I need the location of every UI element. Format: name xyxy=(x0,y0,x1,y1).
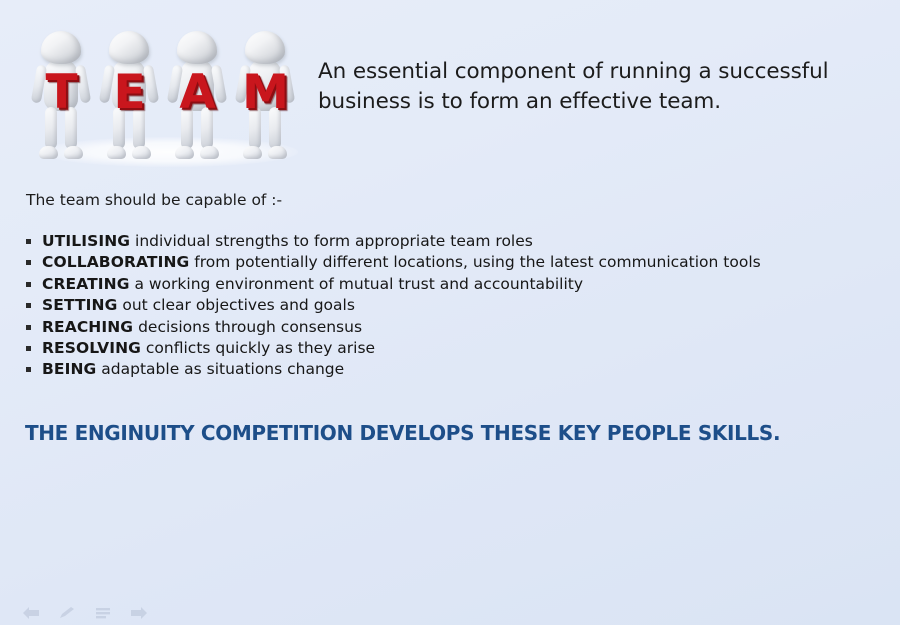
bullet-keyword: UTILISING xyxy=(42,232,130,250)
team-figure-e: E xyxy=(98,31,160,159)
presentation-slide: T E A xyxy=(0,0,900,625)
team-letter-3: A xyxy=(166,69,228,116)
figure-head xyxy=(109,31,149,64)
list-item: BEING adaptable as situations change xyxy=(24,359,884,380)
figure-head xyxy=(41,31,81,64)
bullet-keyword: RESOLVING xyxy=(42,339,141,357)
bullet-keyword: SETTING xyxy=(42,296,117,314)
list-item: COLLABORATING from potentially different… xyxy=(24,252,884,273)
team-illustration: T E A xyxy=(22,18,312,173)
list-item: SETTING out clear objectives and goals xyxy=(24,295,884,316)
figure-foot-left xyxy=(107,146,126,159)
bullet-text: a working environment of mutual trust an… xyxy=(130,275,584,293)
team-letter-4: M xyxy=(234,69,296,116)
bullet-text: decisions through consensus xyxy=(133,318,362,336)
list-item: CREATING a working environment of mutual… xyxy=(24,274,884,295)
team-figure-t: T xyxy=(30,31,92,159)
menu-icon[interactable] xyxy=(94,606,112,620)
figure-foot-right xyxy=(64,146,83,159)
pen-icon[interactable] xyxy=(58,606,76,620)
footer-headline: THE ENGINUITY COMPETITION DEVELOPS THESE… xyxy=(25,420,780,446)
bullet-square-icon xyxy=(26,282,31,287)
intro-text: The team should be capable of :- xyxy=(26,189,282,211)
slide-toolbar[interactable] xyxy=(22,606,148,620)
bullet-text: from potentially different locations, us… xyxy=(189,253,760,271)
figure-foot-right xyxy=(200,146,219,159)
bullet-keyword: REACHING xyxy=(42,318,133,336)
list-item: UTILISING individual strengths to form a… xyxy=(24,231,884,252)
bullet-square-icon xyxy=(26,367,31,372)
team-figure-a: A xyxy=(166,31,228,159)
team-figure-m: M xyxy=(234,31,296,159)
team-letter-2: E xyxy=(98,69,160,116)
team-letter-1: T xyxy=(30,69,92,116)
bullet-keyword: COLLABORATING xyxy=(42,253,189,271)
bullet-keyword: BEING xyxy=(42,360,96,378)
bullet-text: individual strengths to form appropriate… xyxy=(130,232,533,250)
bullet-square-icon xyxy=(26,260,31,265)
figure-foot-left xyxy=(39,146,58,159)
bullet-text: adaptable as situations change xyxy=(96,360,344,378)
bullet-square-icon xyxy=(26,346,31,351)
figure-head xyxy=(245,31,285,64)
bullet-square-icon xyxy=(26,303,31,308)
list-item: RESOLVING conflicts quickly as they aris… xyxy=(24,338,884,359)
list-item: REACHING decisions through consensus xyxy=(24,317,884,338)
figure-foot-right xyxy=(268,146,287,159)
bullet-square-icon xyxy=(26,325,31,330)
figure-foot-right xyxy=(132,146,151,159)
bullet-text: conflicts quickly as they arise xyxy=(141,339,375,357)
bullet-keyword: CREATING xyxy=(42,275,130,293)
slide-heading: An essential component of running a succ… xyxy=(318,57,874,117)
bullet-text: out clear objectives and goals xyxy=(117,296,354,314)
bullet-square-icon xyxy=(26,239,31,244)
previous-arrow-icon[interactable] xyxy=(22,606,40,620)
figure-head xyxy=(177,31,217,64)
figure-foot-left xyxy=(175,146,194,159)
next-arrow-icon[interactable] xyxy=(130,606,148,620)
figure-foot-left xyxy=(243,146,262,159)
capability-bullet-list: UTILISING individual strengths to form a… xyxy=(24,231,884,381)
